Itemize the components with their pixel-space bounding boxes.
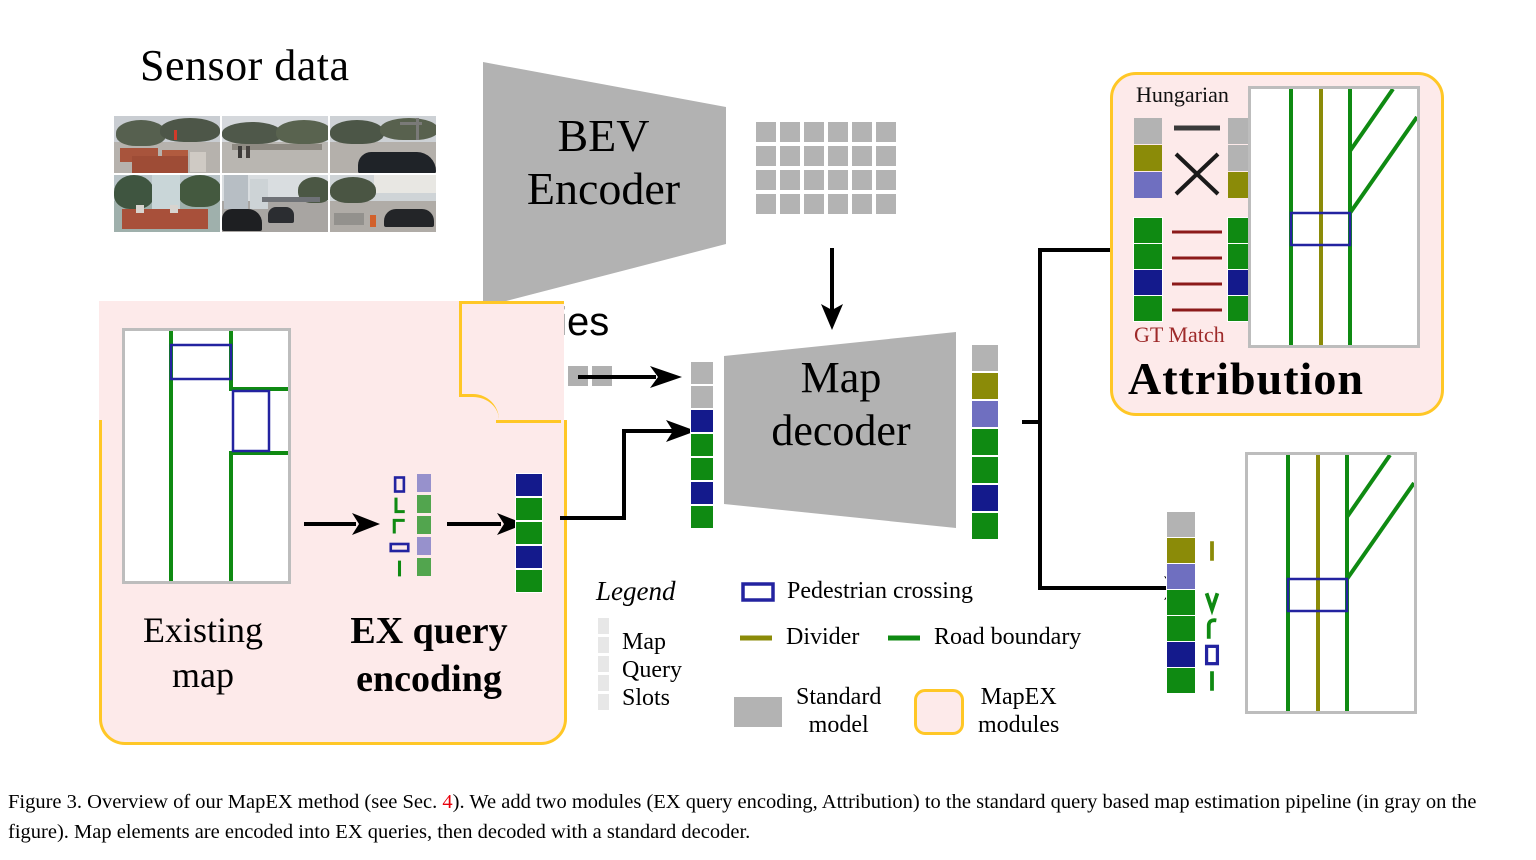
legend-std-line2: model [796,712,881,740]
query-cell-gray [1134,118,1162,144]
arrow-bev-to-decoder [815,248,849,332]
camera-image-grid [114,116,436,232]
query-cell-gray [1167,512,1195,537]
ex-pale-embedding-column [417,474,431,579]
legend-standard-model-label: Standard model [796,684,881,739]
query-cell-green [1167,668,1195,693]
output-prediction-glyph-column [1199,512,1227,694]
bev-grid-cell [852,170,872,190]
query-cell-gray [691,386,713,408]
mapex-module-left-edge-h1 [496,420,561,423]
output-map-drawing [1248,455,1414,711]
query-cell-green [417,495,431,513]
map-decoder-label-line2: decoder [733,405,949,458]
hungarian-matched-left-column [1134,218,1162,322]
boundary-hook-icon [1199,616,1225,642]
existing-map-drawing [125,331,288,581]
bev-grid-cell [852,122,872,142]
map-element-glyph [389,495,411,516]
query-cell-navy [691,482,713,504]
query-cell-green [1167,590,1195,615]
camera-image-front [222,116,328,173]
bev-encoder-label-line2: Encoder [496,163,711,216]
mapex-module-left-edge-v1 [459,301,462,397]
legend-mqs-line1: Map [622,628,682,656]
ex-query-encoding-label: EX query encoding [300,608,558,703]
attribution-map-panel [1248,86,1420,348]
ex-element-glyph-column [389,474,411,579]
bev-grid-cell [828,122,848,142]
bev-grid-cell [780,146,800,166]
query-cell-gray [691,362,713,384]
hungarian-no-match-marks [1166,118,1228,200]
query-cell-navy [1167,642,1195,667]
ex-query-label-line2: encoding [300,656,558,704]
query-cell-green [516,498,542,520]
hungarian-unmatched-left-column [1134,118,1162,199]
arrow-ex-queries-to-decoder [560,413,698,531]
query-cell-navy [972,485,998,511]
existing-map-label: Existing map [112,608,294,698]
query-cell-green [972,457,998,483]
legend-map-query-slots-label: Map Query Slots [622,628,682,712]
hungarian-match-lines [1166,218,1228,328]
bev-grid-cell [876,122,896,142]
legend-mqs-line3: Slots [622,684,682,712]
predicted-element-glyph [1199,590,1227,616]
bev-grid-cell [852,194,872,214]
caption-section-ref[interactable]: 4 [442,791,452,813]
output-map-panel [1245,452,1417,714]
query-cell-green [691,506,713,528]
predicted-element-glyph [1199,668,1227,694]
query-cell-purple [1134,172,1162,198]
arrow-classic-queries [578,366,690,388]
query-cell-purple [417,474,431,492]
query-cell-navy [516,474,542,496]
query-cell-green [691,434,713,456]
attribution-map-drawing [1251,89,1417,345]
query-cell-green [972,429,998,455]
query-cell-navy [1134,270,1162,295]
query-cell-green [417,558,431,576]
divider-icon [738,632,774,644]
legend-mapex-modules-label: MapEX modules [978,684,1059,739]
figure-canvas: Sensor data [0,0,1536,780]
arrow-map-to-elements [304,513,384,535]
ex-query-label-line1: EX query [300,608,558,656]
query-cell-green [516,570,542,592]
bev-grid-cell [828,170,848,190]
boundary-L-icon [389,495,410,516]
legend-mapex-line2: modules [978,712,1059,740]
query-cell-olive [1134,145,1162,171]
predicted-element-glyph [1199,512,1227,538]
camera-image-back-left [114,175,220,232]
query-cell-olive [1167,538,1195,563]
bev-encoder-label-line1: BEV [496,110,711,163]
query-cell-green [1134,296,1162,321]
bev-grid-cell [804,170,824,190]
bev-grid-cell [756,122,776,142]
camera-image-front-right [330,116,436,173]
hungarian-label: Hungarian [1136,82,1229,108]
map-element-glyph [389,474,411,495]
predicted-element-glyph [1199,642,1227,668]
mapex-modules-swatch [914,689,964,735]
standard-model-swatch [734,697,782,727]
camera-image-front-left [114,116,220,173]
bev-grid-cell [876,194,896,214]
legend-divider-label: Divider [786,624,859,651]
bev-feature-grid [756,122,896,214]
gt-match-label: GT Match [1134,322,1225,348]
predicted-element-glyph [1199,538,1227,564]
map-element-glyph [389,516,411,537]
bev-grid-cell [828,146,848,166]
ex-encoded-query-column [516,474,542,594]
bev-grid-cell [780,194,800,214]
query-cell-purple [417,537,431,555]
predicted-element-glyph [1199,616,1227,642]
boundary-bar-icon [1199,668,1225,694]
attribution-title: Attribution [1128,352,1364,405]
map-decoder-label: Map decoder [733,352,949,458]
map-element-glyph [389,537,411,558]
boundary-bar-icon [389,558,410,579]
bev-grid-cell [804,122,824,142]
query-cell-navy [516,546,542,568]
crossing-rect-icon [389,474,410,495]
boundary-v-icon [1199,590,1225,616]
bev-grid-cell [780,170,800,190]
query-cell-green [972,513,998,539]
legend-road-boundary-label: Road boundary [934,624,1081,651]
query-cell-green [1134,244,1162,269]
bev-grid-cell [804,146,824,166]
bev-grid-cell [876,170,896,190]
road-boundary-icon [886,632,922,644]
existing-map-label-line2: map [112,653,294,698]
bev-grid-cell [828,194,848,214]
query-cell-olive [972,373,998,399]
query-cell-purple [1167,564,1195,589]
bev-grid-cell [756,146,776,166]
boundary-corner-icon [389,516,410,537]
legend-mapex-line1: MapEX [978,684,1059,712]
query-cell-purple [972,401,998,427]
divider-bar-icon [1199,538,1225,564]
query-cell-green [1167,616,1195,641]
existing-map-panel [122,328,291,584]
camera-image-back [222,175,328,232]
decoder-input-query-stack [691,362,713,530]
crossing-rect-icon [1199,642,1225,668]
query-cell-gray [972,345,998,371]
map-element-glyph [389,558,411,579]
decoder-output-query-stack [972,345,998,541]
sensor-data-title: Sensor data [140,40,350,91]
legend: Legend Pedestrian crossing Map Query Slo… [596,572,1066,742]
bev-encoder-label: BEV Encoder [496,110,711,216]
query-cell-green [516,522,542,544]
bev-grid-cell [756,170,776,190]
output-prediction-query-stack [1167,512,1195,694]
query-cell-green [1134,218,1162,243]
query-cell-green [417,516,431,534]
query-cell-green [691,458,713,480]
existing-map-label-line1: Existing [112,608,294,653]
figure-caption: Figure 3. Overview of our MapEX method (… [8,788,1528,847]
legend-mqs-line2: Query [622,656,682,684]
query-cell-navy [691,410,713,432]
bev-grid-cell [804,194,824,214]
legend-pedestrian-crossing-label: Pedestrian crossing [787,578,973,605]
map-decoder-label-line1: Map [733,352,949,405]
predicted-element-glyph [1199,564,1227,590]
bev-grid-cell [852,146,872,166]
bev-grid-cell [756,194,776,214]
pedestrian-crossing-icon [741,581,775,603]
legend-std-line1: Standard [796,684,881,712]
crossing-wide-icon [389,537,410,558]
bev-grid-cell [780,122,800,142]
bev-grid-cell [876,146,896,166]
legend-title: Legend [596,576,675,607]
caption-prefix: Figure 3. Overview of our MapEX method (… [8,791,442,813]
map-query-slots-icon [596,618,610,722]
camera-image-back-right [330,175,436,232]
